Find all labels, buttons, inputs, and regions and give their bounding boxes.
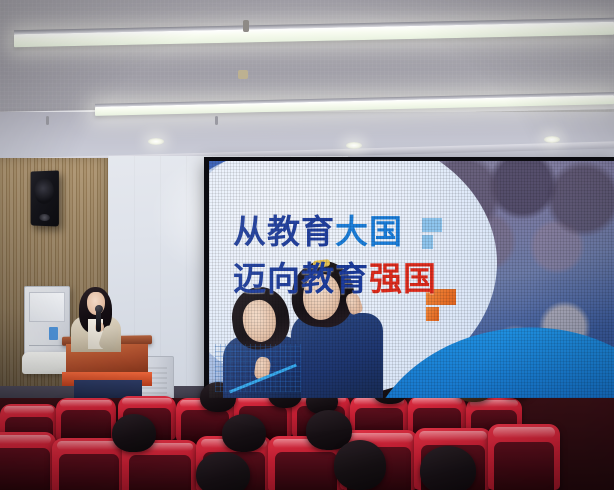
screen-headline-line1: 从教育大国 bbox=[233, 211, 493, 254]
cabinet-label-tag bbox=[49, 327, 58, 340]
audience-member-head bbox=[334, 440, 386, 490]
cabinet-panel bbox=[29, 292, 65, 322]
ceiling-downlight bbox=[148, 138, 164, 145]
led-screen-display: 从教育大国 迈向教育强国 bbox=[209, 161, 614, 398]
auditorium-seat bbox=[52, 438, 126, 490]
cabinet-seam bbox=[29, 345, 65, 346]
sprinkler-icon bbox=[243, 20, 249, 32]
audience-member-head bbox=[112, 414, 156, 452]
ceiling-downlight bbox=[346, 142, 362, 149]
ceiling-bracket-icon bbox=[46, 116, 49, 125]
headline-segment-navy: 迈向教育 bbox=[233, 259, 369, 298]
audience-member-head bbox=[420, 446, 476, 490]
auditorium-seat bbox=[488, 424, 560, 490]
audience-member-head bbox=[222, 414, 266, 452]
led-screen-frame: 从教育大国 迈向教育强国 bbox=[204, 157, 614, 402]
auditorium-seat bbox=[56, 398, 116, 442]
ceiling-bracket-icon bbox=[215, 116, 218, 125]
headline-segment-red: 强国 bbox=[369, 259, 437, 298]
screen-headline-line2: 迈向教育强国 bbox=[233, 258, 493, 301]
headline-segment-blue: 大国 bbox=[335, 212, 403, 251]
ceiling-downlight bbox=[544, 136, 560, 143]
screen-accent-block-orange bbox=[426, 307, 439, 321]
wall-mounted-speaker-icon bbox=[31, 170, 59, 226]
smoke-detector-icon bbox=[238, 70, 248, 79]
screen-headline: 从教育大国 迈向教育强国 bbox=[233, 211, 493, 301]
microphone-icon bbox=[96, 310, 101, 332]
auditorium-seat bbox=[0, 432, 56, 490]
headline-segment-navy: 从教育 bbox=[233, 212, 335, 251]
audience-member-head bbox=[196, 452, 250, 490]
conference-hall-photo: 从教育大国 迈向教育强国 bbox=[0, 0, 614, 490]
